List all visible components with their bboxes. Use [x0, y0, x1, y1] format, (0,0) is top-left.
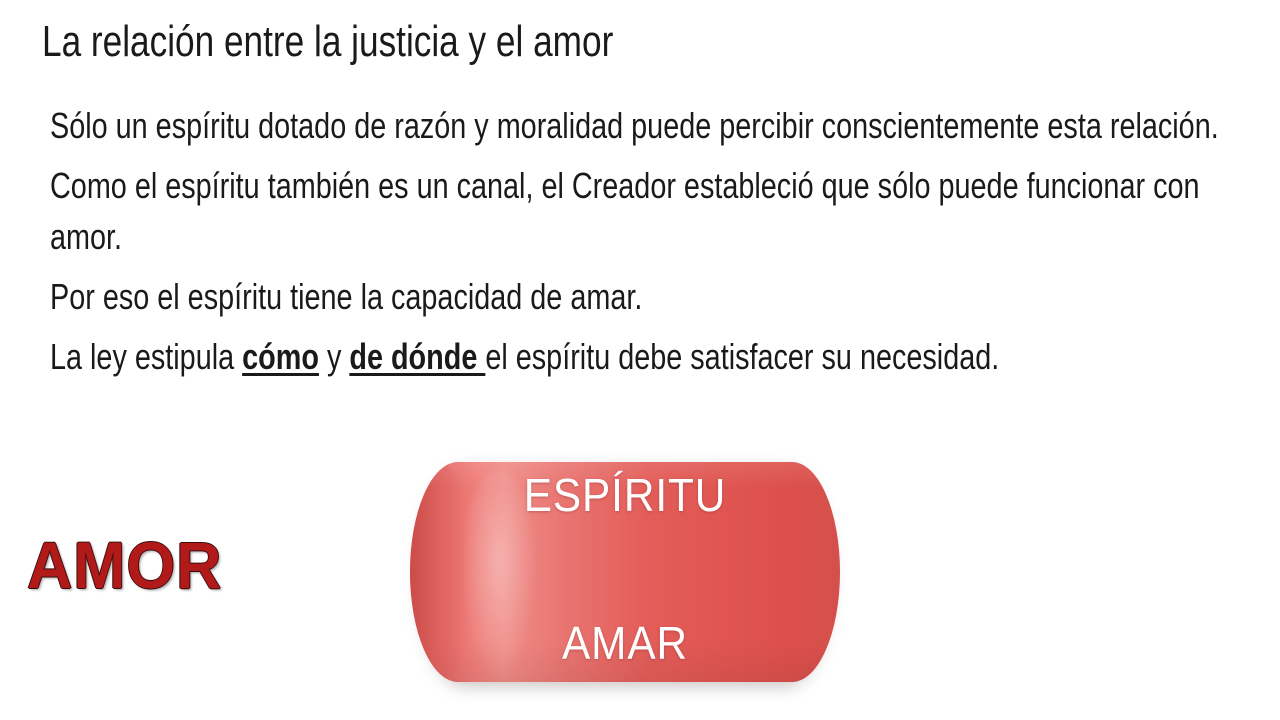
- cylinder-shape: ESPÍRITU AMAR: [410, 462, 840, 682]
- page-title: La relación entre la justicia y el amor: [42, 16, 994, 68]
- body-paragraph-4: La ley estipula cómo y de dónde el espír…: [50, 331, 1250, 382]
- paragraph-4-emphasis-de-donde: de dónde: [349, 336, 485, 377]
- body-paragraph-1: Sólo un espíritu dotado de razón y moral…: [50, 100, 1250, 151]
- cylinder-diagram: ESPÍRITU AMAR: [405, 455, 845, 700]
- cylinder-label-espiritu: ESPÍRITU: [427, 469, 823, 521]
- body-text-block: Sólo un espíritu dotado de razón y moral…: [50, 100, 1250, 382]
- paragraph-4-tail-text: el espíritu debe satisfacer su necesidad…: [485, 336, 999, 377]
- slide-canvas: La relación entre la justicia y el amor …: [0, 0, 1280, 720]
- paragraph-2-text: Como el espíritu también es un canal, el…: [50, 165, 1200, 257]
- cylinder-label-amar: AMAR: [427, 617, 823, 669]
- amor-wordart-label: AMOR: [27, 529, 222, 601]
- body-paragraph-3: Por eso el espíritu tiene la capacidad d…: [50, 271, 1250, 322]
- paragraph-3-text: Por eso el espíritu tiene la capacidad d…: [50, 276, 642, 317]
- paragraph-4-lead-text: La ley estipula: [50, 336, 242, 377]
- paragraph-4-emphasis-como: cómo: [242, 336, 319, 377]
- paragraph-1-text: Sólo un espíritu dotado de razón y moral…: [50, 105, 1219, 146]
- paragraph-4-mid-text: y: [319, 336, 349, 377]
- body-paragraph-2: Como el espíritu también es un canal, el…: [50, 160, 1250, 262]
